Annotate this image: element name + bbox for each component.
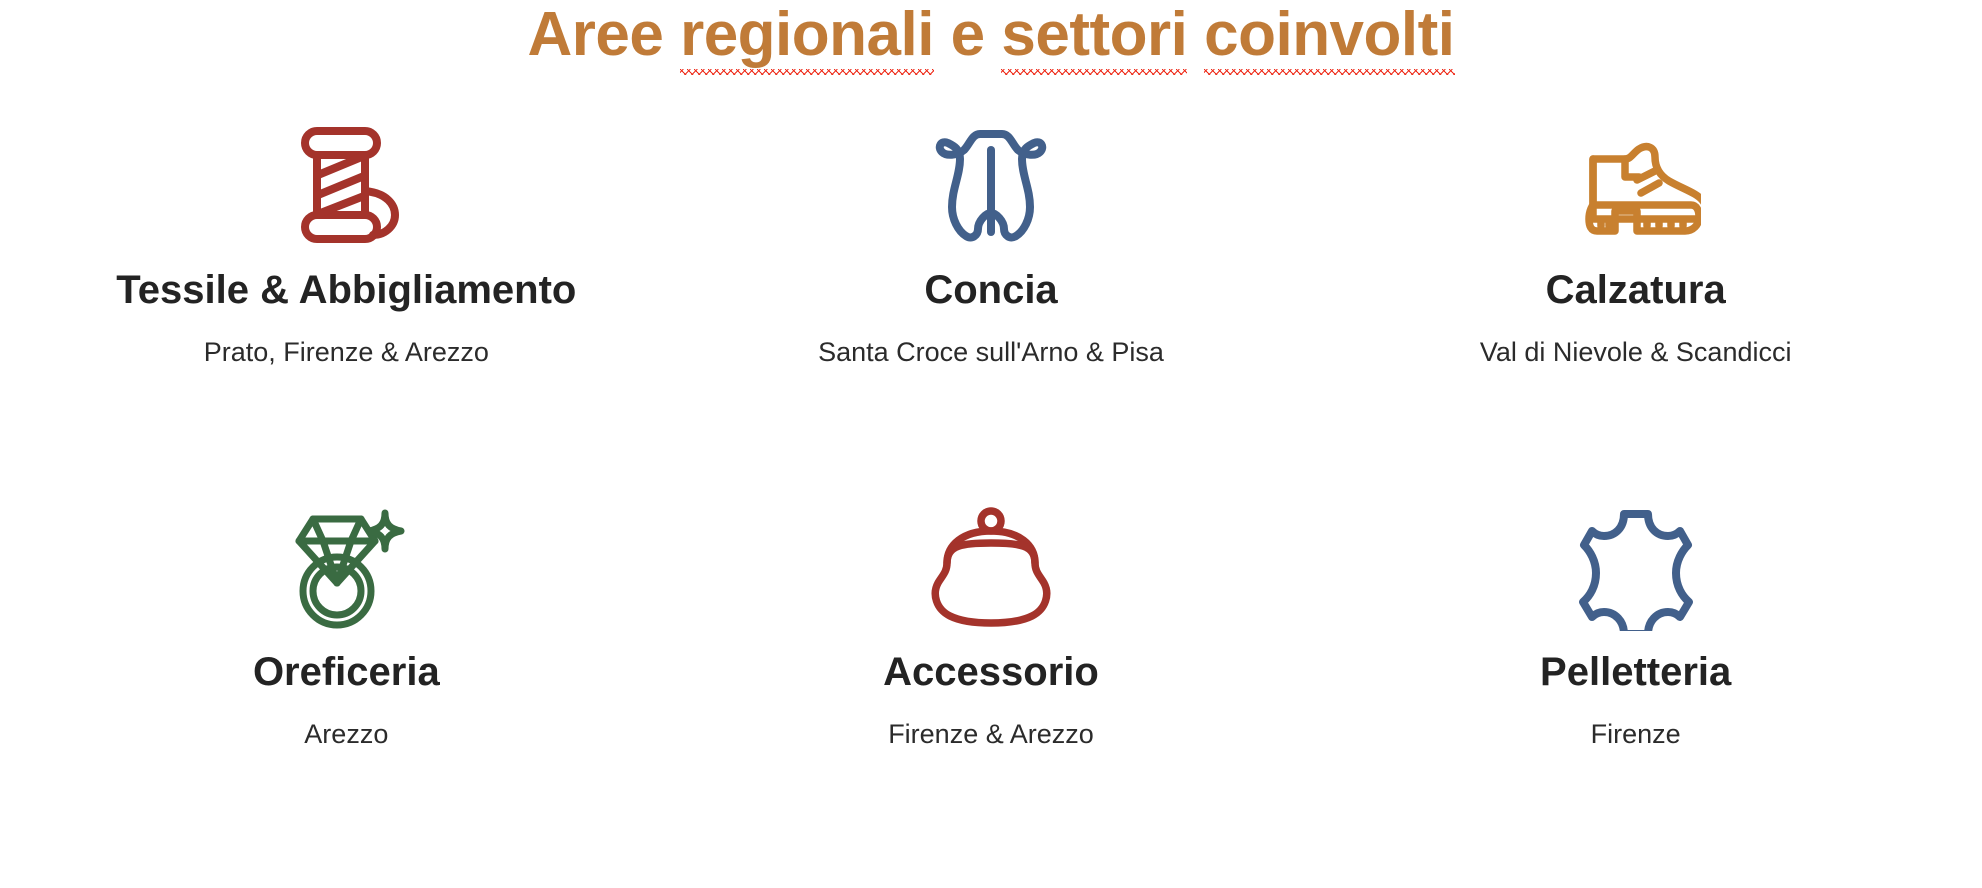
sector-area: Firenze xyxy=(1591,718,1681,750)
sector-card-oreficeria: Oreficeria Arezzo xyxy=(24,478,669,860)
sector-name: Calzatura xyxy=(1546,268,1726,312)
title-segment-0: Aree xyxy=(527,0,680,69)
sector-card-tessile: Tessile & Abbigliamento Prato, Firenze &… xyxy=(24,96,669,478)
sector-card-calzatura: Calzatura Val di Nievole & Scandicci xyxy=(1313,96,1958,478)
sector-card-pelletteria: Pelletteria Firenze xyxy=(1313,478,1958,860)
sector-area: Val di Nievole & Scandicci xyxy=(1480,336,1792,368)
title-segment-5: coinvolti xyxy=(1204,4,1454,66)
sector-area: Prato, Firenze & Arezzo xyxy=(204,336,489,368)
sector-area: Santa Croce sull'Arno & Pisa xyxy=(818,336,1164,368)
title-segment-1: regionali xyxy=(680,4,934,66)
sector-area: Firenze & Arezzo xyxy=(888,718,1094,750)
thread-spool-icon xyxy=(271,114,421,254)
boot-icon xyxy=(1561,114,1711,254)
sector-name: Oreficeria xyxy=(253,650,440,694)
sector-name: Accessorio xyxy=(883,650,1099,694)
sector-card-accessorio: Accessorio Firenze & Arezzo xyxy=(669,478,1314,860)
title-container: Aree regionali e settori coinvolti xyxy=(0,0,1982,96)
sector-name: Pelletteria xyxy=(1540,650,1731,694)
leather-skin-icon xyxy=(1561,496,1711,636)
title-segment-4 xyxy=(1187,0,1204,69)
title-segment-2: e xyxy=(934,0,1001,69)
sector-card-concia: Concia Santa Croce sull'Arno & Pisa xyxy=(669,96,1314,478)
slide-root: Aree regionali e settori coinvolti xyxy=(0,0,1982,888)
sector-name: Tessile & Abbigliamento xyxy=(116,268,576,312)
sector-area: Arezzo xyxy=(304,718,388,750)
coin-purse-icon xyxy=(916,496,1066,636)
leather-hide-icon xyxy=(916,114,1066,254)
sector-name: Concia xyxy=(924,268,1057,312)
sector-grid: Tessile & Abbigliamento Prato, Firenze &… xyxy=(0,96,1982,888)
title-segment-3: settori xyxy=(1001,4,1187,66)
page-title: Aree regionali e settori coinvolti xyxy=(527,4,1454,66)
diamond-ring-icon xyxy=(271,496,421,636)
